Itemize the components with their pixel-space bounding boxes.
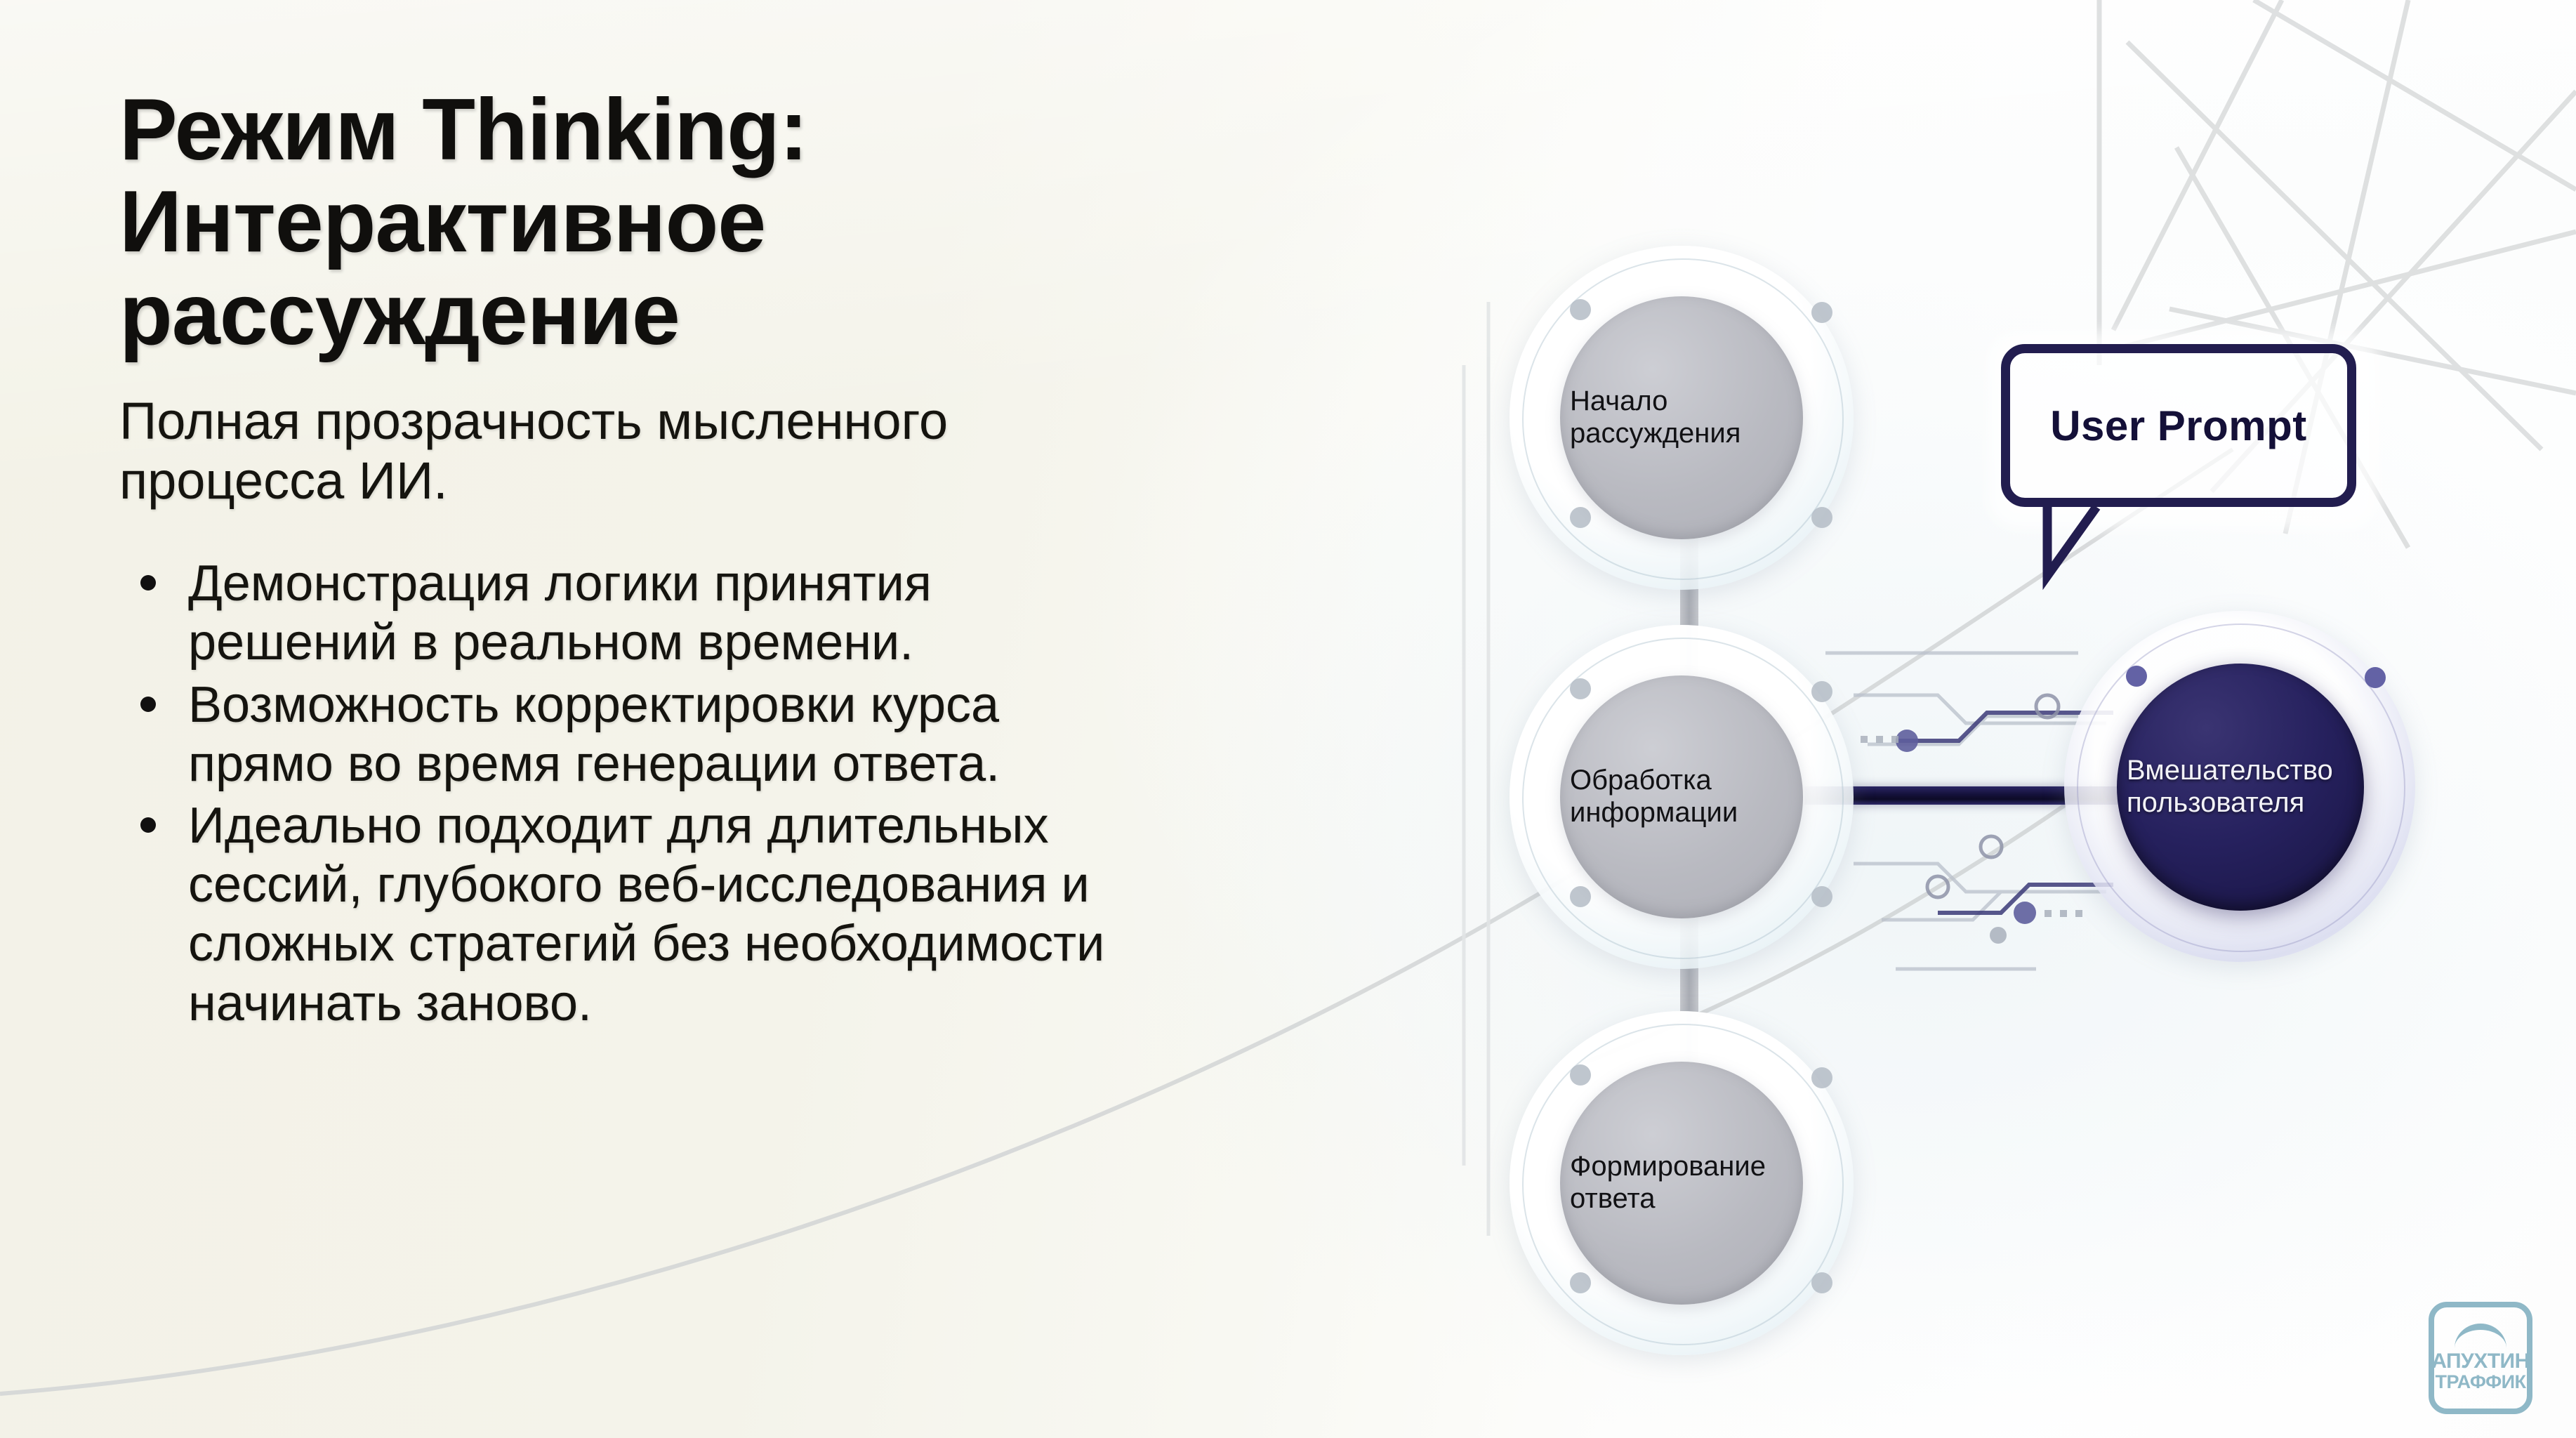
callout-label: User Prompt — [2050, 402, 2307, 450]
node-core: Обработка информации — [1560, 675, 1803, 918]
brand-logo[interactable]: АПУХТИН ТРАФФИК — [2429, 1302, 2532, 1414]
list-item: Идеально подходит для длительных сессий,… — [119, 796, 1143, 1033]
node-dot — [2365, 667, 2386, 688]
list-item: Возможность корректировки курса прямо во… — [119, 675, 1143, 793]
logo-line-2: ТРАФФИК — [2435, 1372, 2525, 1393]
diagram-node-label: Начало рассуждения — [1560, 385, 1803, 449]
wifi-arc-icon — [2455, 1324, 2506, 1348]
node-dot — [1811, 681, 1832, 702]
node-dot — [1811, 507, 1832, 528]
node-dot — [1570, 678, 1591, 699]
bullet-dot-icon — [140, 575, 156, 591]
node-dot — [1811, 886, 1832, 907]
node-dot — [1570, 1064, 1591, 1086]
bullet-dot-icon — [140, 817, 156, 833]
list-item-label: Возможность корректировки курса прямо во… — [188, 677, 1000, 792]
list-item: Демонстрация логики принятия решений в р… — [119, 554, 1143, 672]
node-dot — [1570, 886, 1591, 907]
slide-text-column: Режим Thinking: Интерактивное рассуждени… — [119, 84, 1355, 1036]
diagram-node-label: Обработка информации — [1560, 765, 1803, 829]
list-item-label: Демонстрация логики принятия решений в р… — [188, 555, 932, 671]
node-dot — [1811, 1067, 1832, 1088]
page-title: Режим Thinking: Интерактивное рассуждени… — [119, 84, 1116, 361]
callout-tail-icon — [2042, 500, 2189, 591]
node-dot — [2126, 666, 2147, 687]
node-core: Формирование ответа — [1560, 1062, 1803, 1305]
node-dot — [1570, 1272, 1591, 1293]
slide-subtitle: Полная прозрачность мысленного процесса … — [119, 392, 1032, 510]
node-core: Начало рассуждения — [1560, 296, 1803, 539]
slide-canvas: Режим Thinking: Интерактивное рассуждени… — [0, 0, 2576, 1438]
node-dot — [1570, 507, 1591, 528]
bullet-list: Демонстрация логики принятия решений в р… — [119, 554, 1355, 1033]
node-dot — [1570, 299, 1591, 320]
callout-bubble: User Prompt — [2001, 344, 2356, 507]
diagram-node-label: Вмешательство пользователя — [2117, 755, 2364, 819]
node-dot — [1811, 302, 1832, 323]
user-prompt-callout[interactable]: User Prompt — [2001, 344, 2408, 562]
node-core: Вмешательство пользователя — [2117, 664, 2364, 911]
bullet-dot-icon — [140, 697, 156, 712]
logo-line-1: АПУХТИН — [2431, 1351, 2530, 1372]
list-item-label: Идеально подходит для длительных сессий,… — [188, 798, 1104, 1031]
node-dot — [1811, 1272, 1832, 1293]
diagram-node-label: Формирование ответа — [1560, 1151, 1803, 1215]
